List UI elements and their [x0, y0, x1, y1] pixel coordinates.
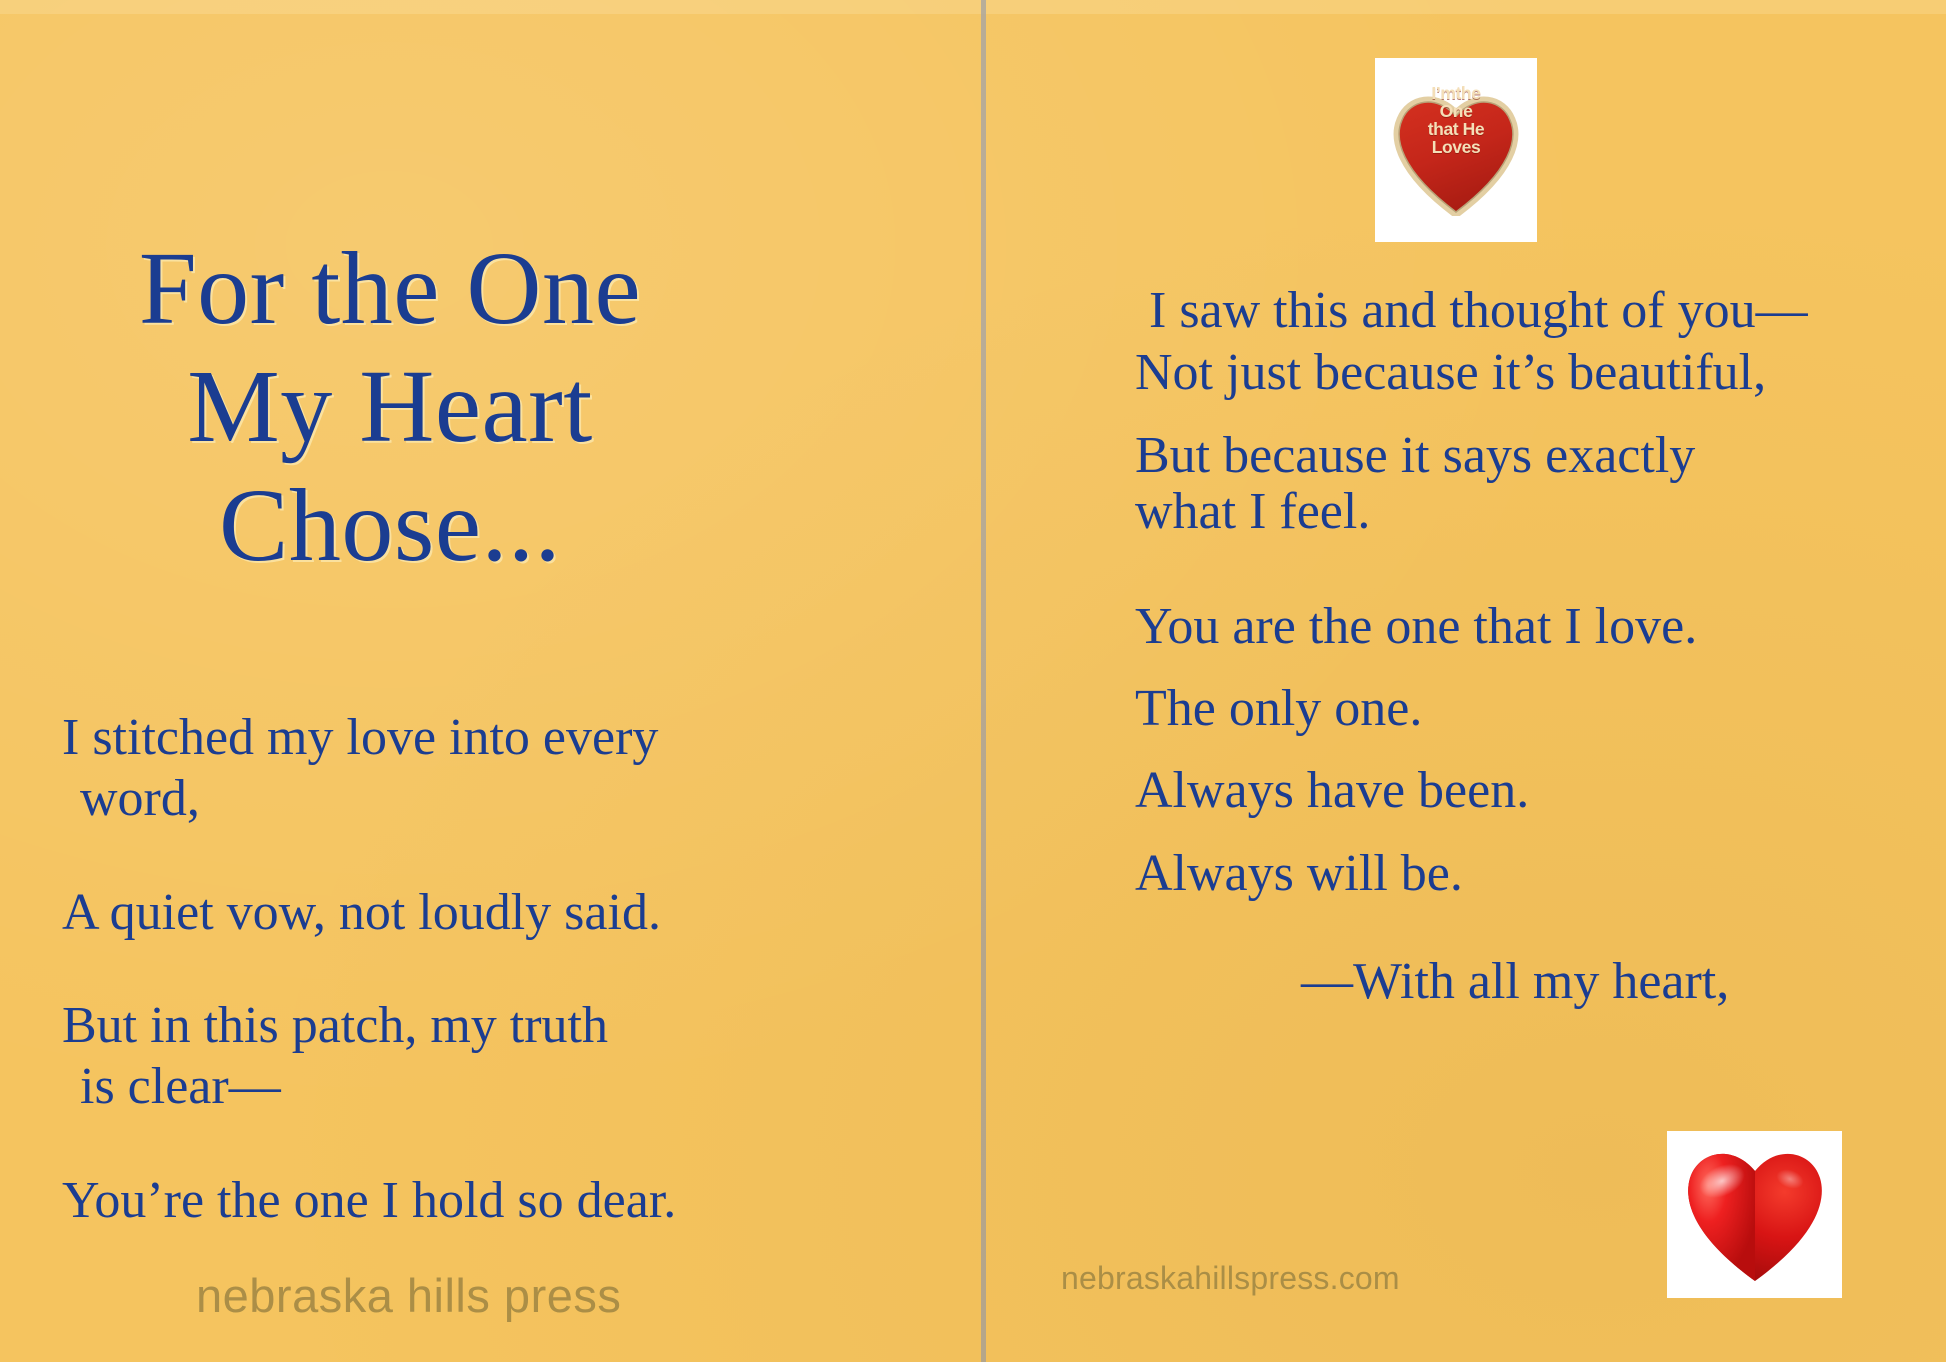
brand-wordmark: nebraska hills press [196, 1268, 621, 1323]
message-signoff: —With all my heart, [1135, 951, 1935, 1013]
right-message: I saw this and thought of you— Not just … [1135, 228, 1935, 1014]
left-panel: For the One My Heart Chose... I stitched… [0, 0, 981, 1362]
title-line-2: My Heart [40, 348, 740, 467]
message-stanza: I saw this and thought of you— Not just … [1135, 280, 1935, 544]
poem-stanza: A quiet vow, not loudly said. [62, 882, 722, 943]
poem-line: I stitched my love into every [62, 707, 722, 768]
poem-line: But in this patch, my truth [62, 995, 722, 1056]
greeting-card-spread: For the One My Heart Chose... I stitched… [0, 0, 1946, 1362]
poem-stanza: But in this patch, my truth is clear— [62, 995, 722, 1118]
poem-stanza: You’re the one I hold so dear. [62, 1170, 722, 1231]
heart-patch-image: I’mthe One that He Loves [1375, 58, 1537, 242]
title-line-3: Chose... [40, 467, 740, 586]
poem-line: You’re the one I hold so dear. [62, 1170, 722, 1231]
message-line: You are the one that I love. [1135, 596, 1935, 658]
poem-line: word, [62, 768, 722, 829]
message-line: what I feel. [1135, 481, 1935, 543]
brand-website-url: nebraskahillspress.com [1061, 1260, 1400, 1297]
poem-line: A quiet vow, not loudly said. [62, 882, 722, 943]
message-stanza: You are the one that I love. The only on… [1135, 596, 1935, 1014]
poem-line: is clear— [62, 1056, 722, 1117]
left-poem: I stitched my love into every word, A qu… [62, 655, 722, 1231]
page-title: For the One My Heart Chose... [40, 230, 740, 586]
message-line: The only one. [1135, 678, 1935, 740]
embroidered-heart-icon [1392, 92, 1520, 216]
message-line: Not just because it’s beautiful, [1135, 342, 1935, 404]
message-line: But because it says exactly [1135, 425, 1935, 487]
right-panel: I’mthe One that He Loves I saw this and … [986, 0, 1946, 1362]
red-heart-icon [1680, 1145, 1830, 1285]
message-line: Always have been. [1135, 760, 1935, 822]
message-line: I saw this and thought of you— [1135, 280, 1935, 342]
title-line-1: For the One [40, 230, 740, 349]
message-line: Always will be. [1135, 843, 1935, 905]
poem-stanza: I stitched my love into every word, [62, 707, 722, 830]
red-heart-image [1667, 1131, 1842, 1298]
